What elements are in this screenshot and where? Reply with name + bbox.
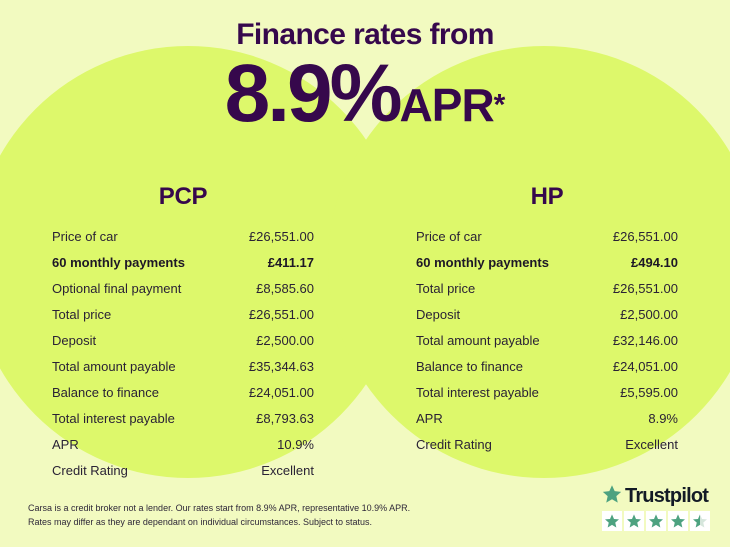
table-row: Optional final payment£8,585.60 — [52, 275, 314, 301]
table-row: Total price£26,551.00 — [416, 275, 678, 301]
table-row: Price of car£26,551.00 — [52, 223, 314, 249]
page-title: Finance rates from — [0, 0, 730, 51]
table-row: Credit RatingExcellent — [52, 457, 314, 483]
row-value: £8,585.60 — [228, 275, 314, 301]
plan-block-pcp: PCP Price of car£26,551.0060 monthly pay… — [52, 183, 314, 483]
plan-table-hp: Price of car£26,551.0060 monthly payment… — [416, 223, 678, 457]
row-label: 60 monthly payments — [52, 249, 228, 275]
row-label: Price of car — [416, 223, 592, 249]
table-row: Balance to finance£24,051.00 — [416, 353, 678, 379]
table-row: 60 monthly payments£411.17 — [52, 249, 314, 275]
row-value: Excellent — [592, 431, 678, 457]
row-label: Balance to finance — [52, 379, 228, 405]
row-label: Optional final payment — [52, 275, 228, 301]
trustpilot-star-icon — [602, 484, 622, 509]
trustpilot-star — [624, 511, 644, 531]
table-row: Total amount payable£35,344.63 — [52, 353, 314, 379]
legal-line-2: Rates may differ as they are dependant o… — [28, 515, 498, 529]
table-row: APR8.9% — [416, 405, 678, 431]
row-label: Deposit — [52, 327, 228, 353]
trustpilot-star-row — [602, 511, 712, 531]
row-value: £26,551.00 — [228, 301, 314, 327]
trustpilot-star — [668, 511, 688, 531]
plan-heading-hp: HP — [416, 183, 678, 211]
table-row: Deposit£2,500.00 — [52, 327, 314, 353]
row-label: Credit Rating — [416, 431, 592, 457]
row-value: £2,500.00 — [228, 327, 314, 353]
row-value: £8,793.63 — [228, 405, 314, 431]
row-value: 8.9% — [592, 405, 678, 431]
legal-disclaimer: Carsa is a credit broker not a lender. O… — [28, 501, 498, 529]
trustpilot-star — [646, 511, 666, 531]
rate-asterisk: * — [494, 89, 506, 122]
row-value: £411.17 — [228, 249, 314, 275]
trustpilot-logo: Trustpilot — [602, 485, 712, 507]
row-label: Total price — [52, 301, 228, 327]
table-row: Credit RatingExcellent — [416, 431, 678, 457]
row-value: Excellent — [228, 457, 314, 483]
finance-plans-comparison: PCP Price of car£26,551.0060 monthly pay… — [0, 183, 730, 483]
table-row: Total interest payable£8,793.63 — [52, 405, 314, 431]
row-value: £5,595.00 — [592, 379, 678, 405]
row-value: £494.10 — [592, 249, 678, 275]
headline-rate: 8.9%APR* — [0, 51, 730, 135]
row-value: £2,500.00 — [592, 301, 678, 327]
row-label: APR — [416, 405, 592, 431]
row-label: Deposit — [416, 301, 592, 327]
table-row: 60 monthly payments£494.10 — [416, 249, 678, 275]
row-label: APR — [52, 431, 228, 457]
row-label: Total amount payable — [52, 353, 228, 379]
table-row: Total price£26,551.00 — [52, 301, 314, 327]
row-value: £24,051.00 — [592, 353, 678, 379]
table-row: Price of car£26,551.00 — [416, 223, 678, 249]
row-value: £26,551.00 — [592, 223, 678, 249]
plan-table-pcp: Price of car£26,551.0060 monthly payment… — [52, 223, 314, 483]
row-label: Price of car — [52, 223, 228, 249]
plan-heading-pcp: PCP — [52, 183, 314, 211]
rate-unit: APR — [400, 79, 494, 131]
rate-value: 8.9% — [225, 48, 400, 139]
row-label: Total interest payable — [416, 379, 592, 405]
row-value: £35,344.63 — [228, 353, 314, 379]
row-label: 60 monthly payments — [416, 249, 592, 275]
row-label: Total interest payable — [52, 405, 228, 431]
table-row: Balance to finance£24,051.00 — [52, 379, 314, 405]
row-value: £26,551.00 — [592, 275, 678, 301]
trustpilot-star — [690, 511, 710, 531]
row-label: Total price — [416, 275, 592, 301]
row-label: Credit Rating — [52, 457, 228, 483]
table-row: APR10.9% — [52, 431, 314, 457]
row-label: Total amount payable — [416, 327, 592, 353]
trustpilot-star — [602, 511, 622, 531]
table-row: Total interest payable£5,595.00 — [416, 379, 678, 405]
row-value: 10.9% — [228, 431, 314, 457]
row-value: £26,551.00 — [228, 223, 314, 249]
trustpilot-wordmark-text: Trustpilot — [625, 486, 708, 506]
row-label: Balance to finance — [416, 353, 592, 379]
table-row: Deposit£2,500.00 — [416, 301, 678, 327]
promo-header: Finance rates from 8.9%APR* — [0, 0, 730, 135]
trustpilot-rating[interactable]: Trustpilot — [602, 485, 712, 531]
row-value: £24,051.00 — [228, 379, 314, 405]
plan-block-hp: HP Price of car£26,551.0060 monthly paym… — [416, 183, 678, 483]
legal-line-1: Carsa is a credit broker not a lender. O… — [28, 501, 498, 515]
table-row: Total amount payable£32,146.00 — [416, 327, 678, 353]
finance-rates-promo-card: Finance rates from 8.9%APR* PCP Price of… — [0, 0, 730, 547]
row-value: £32,146.00 — [592, 327, 678, 353]
